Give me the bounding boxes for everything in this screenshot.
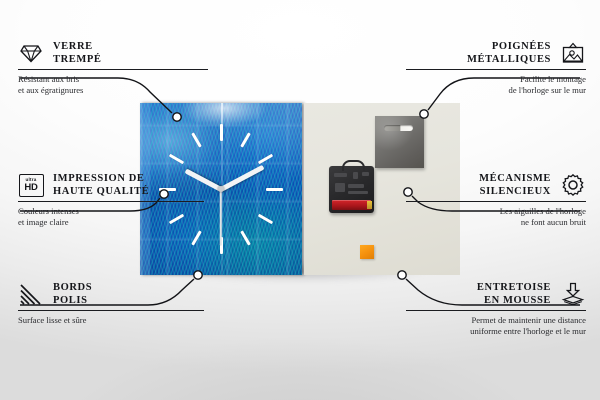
hour-tick-3 [266, 188, 283, 191]
diamond-gem-icon [18, 41, 44, 65]
picture-hanger-icon [560, 41, 586, 65]
mechanism-detail-f [348, 191, 368, 194]
mechanism-detail-c [362, 172, 369, 176]
mechanism-detail-d [335, 183, 345, 192]
infographic-canvas: VERRE TREMPÉ Résistant aux bris et aux é… [0, 0, 600, 400]
callout-impression-haute-qualite: ultra HD IMPRESSION DE HAUTE QUALITÉ Cou… [18, 172, 208, 227]
callout-header: MÉCANISME SILENCIEUX [406, 172, 586, 198]
callout-bords-polis: BORDS POLIS Surface lisse et sûre [18, 281, 208, 326]
callout-description: Les aiguilles de l'horloge ne font aucun… [406, 206, 586, 227]
arrow-down-layers-icon [560, 282, 586, 306]
minute-hand [220, 165, 265, 192]
callout-verre-trempe: VERRE TREMPÉ Résistant aux bris et aux é… [18, 40, 208, 95]
battery-positive-terminal [367, 201, 372, 209]
silent-clock-mechanism [329, 166, 374, 213]
callout-divider [406, 310, 586, 311]
hour-tick-12 [220, 124, 223, 141]
callout-header: VERRE TREMPÉ [18, 40, 208, 66]
callout-title: MÉCANISME SILENCIEUX [479, 172, 551, 198]
callout-description: Couleurs intenses et image claire [18, 206, 208, 227]
callout-divider [406, 201, 586, 202]
callout-divider [406, 69, 586, 70]
mechanism-battery [332, 200, 371, 210]
hour-tick-11 [191, 132, 202, 147]
metal-hanger-plate [375, 116, 424, 168]
callout-description: Surface lisse et sûre [18, 315, 208, 326]
hour-tick-7 [191, 230, 202, 245]
hour-tick-10 [169, 154, 184, 165]
hour-tick-5 [240, 230, 251, 245]
callout-title: POIGNÉES MÉTALLIQUES [467, 40, 551, 66]
mechanism-detail-e [348, 184, 364, 188]
callout-title: VERRE TREMPÉ [53, 40, 102, 66]
second-hand [220, 190, 222, 246]
mechanism-detail-a [334, 173, 347, 177]
ultra-hd-icon: ultra HD [18, 173, 44, 197]
polished-edges-icon [18, 282, 44, 306]
hanger-plate-slot [384, 125, 413, 131]
foam-spacer [360, 245, 374, 259]
callout-divider [18, 69, 208, 70]
callout-entretoise-en-mousse: ENTRETOISE EN MOUSSE Permet de maintenir… [406, 281, 586, 336]
callout-divider [18, 310, 204, 311]
callout-description: Résistant aux bris et aux égratignures [18, 74, 208, 95]
callout-title: BORDS POLIS [53, 281, 92, 307]
hour-tick-4 [258, 214, 273, 225]
ultra-hd-badge: ultra HD [19, 174, 44, 197]
hour-tick-2 [258, 154, 273, 165]
callout-header: BORDS POLIS [18, 281, 208, 307]
callout-title: IMPRESSION DE HAUTE QUALITÉ [53, 172, 149, 198]
callout-header: ultra HD IMPRESSION DE HAUTE QUALITÉ [18, 172, 208, 198]
clock-center-pin [218, 186, 224, 192]
callout-description: Facilite le montage de l'horloge sur le … [406, 74, 586, 95]
callout-divider [18, 201, 204, 202]
callout-header: ENTRETOISE EN MOUSSE [406, 281, 586, 307]
hour-tick-1 [240, 132, 251, 147]
ultra-hd-line2: HD [24, 183, 37, 193]
callout-title: ENTRETOISE EN MOUSSE [477, 281, 551, 307]
callout-poignees-metalliques: POIGNÉES MÉTALLIQUES Facilite le montage… [406, 40, 586, 95]
callout-mecanisme-silencieux: MÉCANISME SILENCIEUX Les aiguilles de l'… [406, 172, 586, 227]
callout-header: POIGNÉES MÉTALLIQUES [406, 40, 586, 66]
callout-description: Permet de maintenir une distance uniform… [406, 315, 586, 336]
mechanism-detail-b [353, 172, 358, 179]
mechanism-hanger-loop [342, 160, 365, 171]
gear-icon [560, 173, 586, 197]
